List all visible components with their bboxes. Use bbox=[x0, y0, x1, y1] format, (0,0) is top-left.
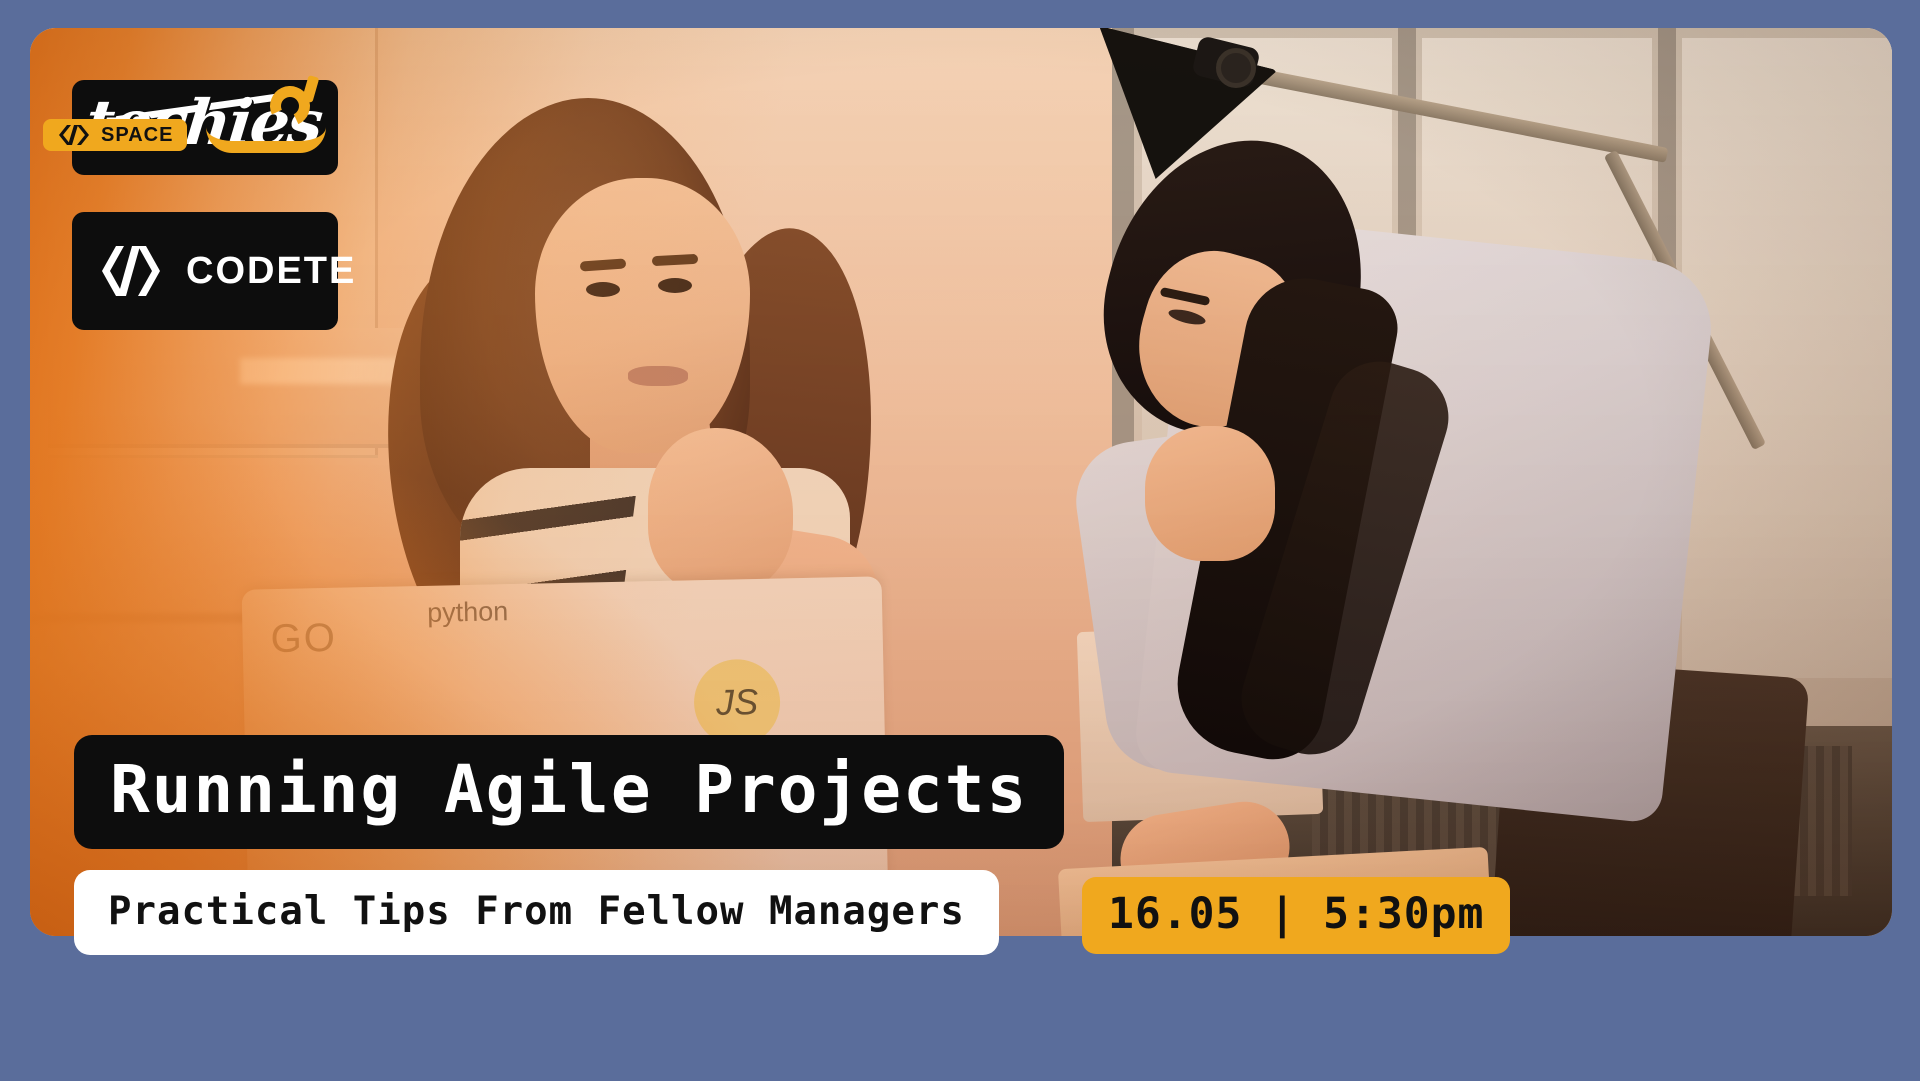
event-title-bar: Running Agile Projects bbox=[74, 735, 1064, 849]
event-datetime: 16.05 | 5:30pm bbox=[1108, 893, 1484, 936]
codete-wordmark: CODETE bbox=[186, 250, 356, 293]
event-datetime-badge: 16.05 | 5:30pm bbox=[1082, 877, 1510, 954]
techies-space-badge[interactable]: SPACE bbox=[43, 119, 187, 151]
codete-chevron-logo-icon bbox=[94, 243, 168, 299]
page-title: Running Agile Projects bbox=[110, 757, 1028, 823]
codete-logo[interactable]: CODETE bbox=[72, 212, 338, 330]
space-badge-label: SPACE bbox=[101, 124, 173, 147]
code-brackets-icon bbox=[57, 124, 91, 146]
event-subtitle-bar: Practical Tips From Fellow Managers bbox=[74, 870, 999, 955]
page-subtitle: Practical Tips From Fellow Managers bbox=[108, 892, 965, 931]
poster-canvas: GO python JS techies SPACE bbox=[0, 0, 1920, 1081]
techies-accent-tail-icon bbox=[206, 127, 326, 153]
